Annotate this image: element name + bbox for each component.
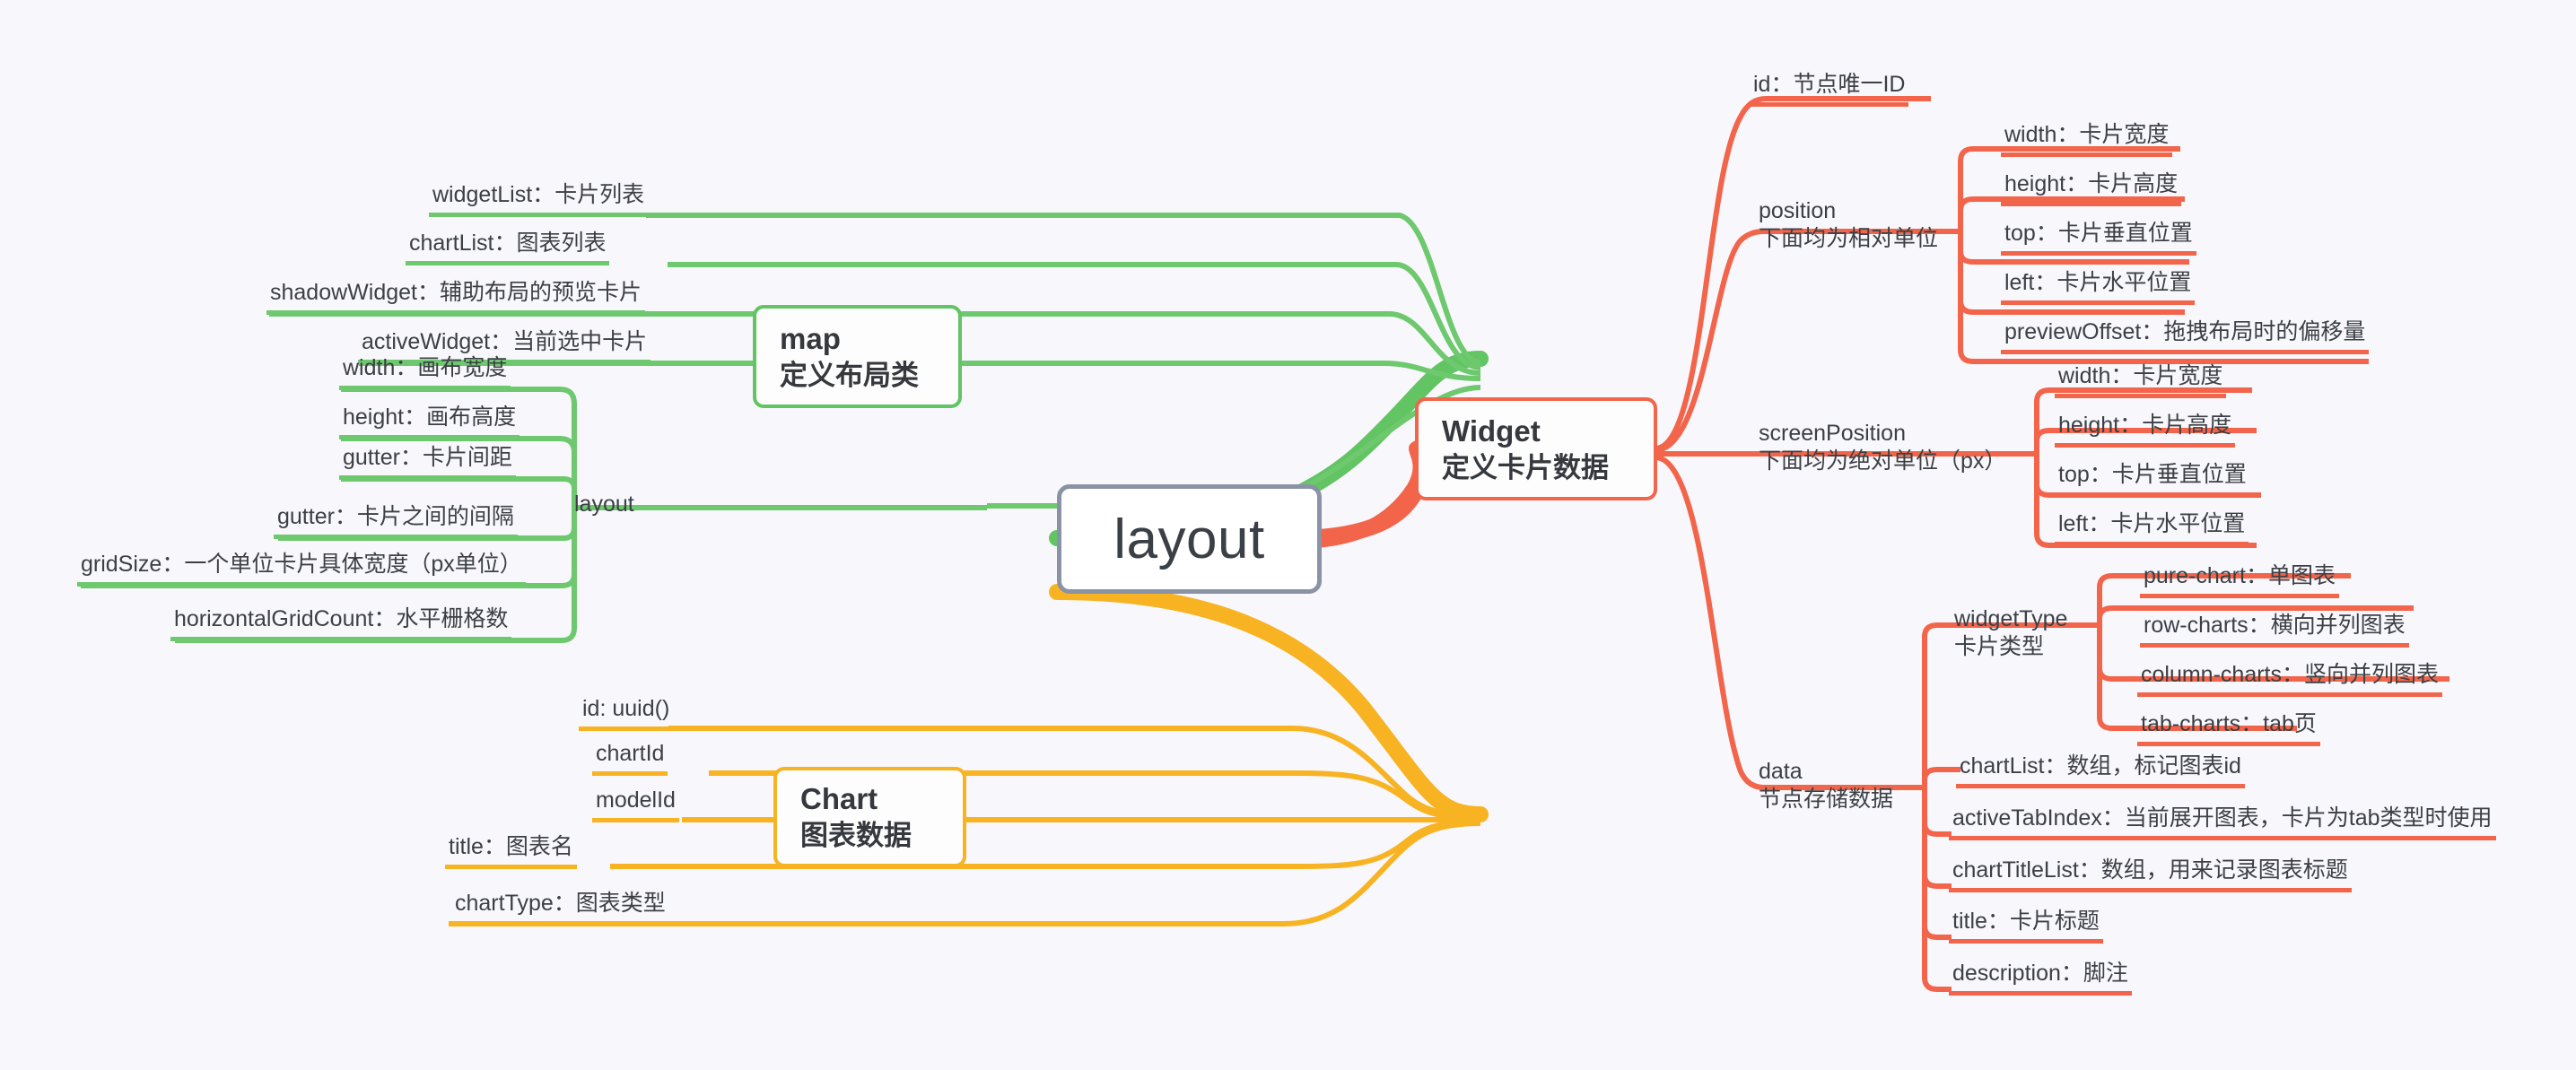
group-label-text: layout	[574, 492, 634, 517]
leaf-screenposition-height[interactable]: height：卡片高度	[2055, 414, 2235, 448]
leaf-map-layout-gutter[interactable]: gutter：卡片间距	[339, 447, 516, 480]
leaf-label: tab-charts：tab页	[2141, 711, 2317, 736]
group-sublabel-text: 卡片类型	[1954, 633, 2067, 661]
leaf-label: description：脚注	[1952, 961, 2128, 986]
leaf-label: chartList：图表列表	[409, 231, 606, 256]
leaf-label: id: uuid()	[582, 696, 669, 721]
leaf-widgettype-pure-chart[interactable]: pure-chart：单图表	[2140, 565, 2339, 598]
leaf-label: top：卡片垂直位置	[2058, 462, 2247, 487]
group-label-layout[interactable]: layout	[574, 493, 634, 516]
leaf-position-left[interactable]: left：卡片水平位置	[2001, 272, 2195, 305]
root-node-label: layout	[1113, 508, 1264, 571]
leaf-data-title[interactable]: title：卡片标题	[1949, 910, 2103, 944]
group-label-widgettype[interactable]: widgetType 卡片类型	[1954, 605, 2067, 662]
group-label-position[interactable]: position 下面均为相对单位	[1759, 197, 1938, 254]
leaf-widgettype-column-charts[interactable]: column-charts：竖向并列图表	[2137, 664, 2442, 697]
leaf-widget-id[interactable]: id：节点唯一ID	[1750, 74, 1908, 107]
mindmap-canvas: layout map 定义布局类 widgetList：卡片列表 chartLi…	[0, 0, 2576, 1070]
leaf-label: activeTabIndex：当前展开图表，卡片为tab类型时使用	[1952, 805, 2493, 831]
leaf-shadowwidget[interactable]: shadowWidget：辅助布局的预览卡片	[266, 282, 645, 315]
branch-node-chart[interactable]: Chart 图表数据	[773, 767, 966, 867]
leaf-label: previewOffset：拖拽布局时的偏移量	[2004, 319, 2365, 344]
root-node-layout[interactable]: layout	[1057, 484, 1322, 594]
leaf-chart-id[interactable]: id: uuid()	[579, 698, 673, 731]
leaf-position-top[interactable]: top：卡片垂直位置	[2001, 222, 2196, 256]
leaf-chart-charttype[interactable]: chartType：图表类型	[451, 892, 669, 926]
leaf-label: left：卡片水平位置	[2058, 511, 2245, 536]
leaf-label: gutter：卡片之间的间隔	[277, 504, 514, 529]
leaf-data-description[interactable]: description：脚注	[1949, 962, 2132, 996]
leaf-label: pure-chart：单图表	[2144, 563, 2336, 588]
leaf-label: height：卡片高度	[2004, 171, 2178, 196]
leaf-label: chartTitleList：数组，用来记录图表标题	[1952, 857, 2348, 883]
leaf-data-activetabindex[interactable]: activeTabIndex：当前展开图表，卡片为tab类型时使用	[1949, 807, 2496, 840]
group-label-screenposition[interactable]: screenPosition 下面均为绝对单位（px）	[1759, 420, 2006, 476]
leaf-widgettype-row-charts[interactable]: row-charts：横向并列图表	[2140, 614, 2409, 648]
leaf-label: gridSize：一个单位卡片具体宽度（px单位）	[81, 552, 522, 577]
leaf-label: width：卡片宽度	[2004, 122, 2169, 147]
leaf-label: width：画布宽度	[343, 355, 507, 380]
leaf-label: chartId	[596, 741, 664, 766]
branch-node-widget-title: Widget	[1442, 413, 1541, 450]
leaf-position-previewoffset[interactable]: previewOffset：拖拽布局时的偏移量	[2001, 321, 2369, 354]
leaf-screenposition-width[interactable]: width：卡片宽度	[2055, 365, 2226, 398]
leaf-widgetlist[interactable]: widgetList：卡片列表	[429, 184, 648, 217]
leaf-label: gutter：卡片间距	[343, 445, 512, 470]
leaf-label: shadowWidget：辅助布局的预览卡片	[270, 280, 642, 305]
leaf-map-layout-horizontalgridcount[interactable]: horizontalGridCount：水平栅格数	[170, 608, 511, 641]
branch-node-widget-subtitle: 定义卡片数据	[1442, 450, 1609, 486]
group-label-text: data	[1759, 759, 1803, 784]
group-label-data[interactable]: data 节点存储数据	[1759, 758, 1893, 814]
leaf-label: id：节点唯一ID	[1753, 72, 1905, 97]
leaf-chartlist-map[interactable]: chartList：图表列表	[406, 232, 609, 265]
group-label-text: widgetType	[1954, 606, 2067, 631]
leaf-label: widgetList：卡片列表	[432, 182, 644, 207]
leaf-map-layout-width[interactable]: width：画布宽度	[339, 357, 511, 390]
leaf-map-layout-gridsize[interactable]: gridSize：一个单位卡片具体宽度（px单位）	[77, 553, 526, 587]
leaf-label: chartList：数组，标记图表id	[1960, 753, 2241, 779]
group-label-text: position	[1759, 198, 1836, 223]
leaf-label: title：卡片标题	[1952, 909, 2100, 934]
leaf-data-charttitlelist[interactable]: chartTitleList：数组，用来记录图表标题	[1949, 859, 2352, 892]
leaf-chart-chartid[interactable]: chartId	[592, 743, 668, 776]
branch-node-map-title: map	[780, 320, 841, 358]
branch-node-widget[interactable]: Widget 定义卡片数据	[1415, 397, 1657, 500]
leaf-map-layout-gutter-2[interactable]: gutter：卡片之间的间隔	[274, 506, 518, 539]
leaf-label: column-charts：竖向并列图表	[2141, 662, 2439, 687]
leaf-label: row-charts：横向并列图表	[2144, 613, 2406, 638]
leaf-label: activeWidget：当前选中卡片	[362, 329, 647, 354]
leaf-data-chartlist[interactable]: chartList：数组，标记图表id	[1956, 755, 2245, 788]
leaf-label: width：卡片宽度	[2058, 363, 2222, 388]
leaf-label: chartType：图表类型	[455, 891, 666, 916]
leaf-screenposition-left[interactable]: left：卡片水平位置	[2055, 513, 2249, 546]
leaf-label: top：卡片垂直位置	[2004, 221, 2193, 246]
leaf-chart-title[interactable]: title：图表名	[445, 836, 577, 869]
leaf-label: height：卡片高度	[2058, 413, 2231, 438]
leaf-label: modelId	[596, 787, 676, 813]
leaf-label: left：卡片水平位置	[2004, 270, 2191, 295]
leaf-chart-modelid[interactable]: modelId	[592, 789, 679, 822]
leaf-widgettype-tab-charts[interactable]: tab-charts：tab页	[2137, 713, 2320, 746]
branch-node-map-subtitle: 定义布局类	[780, 358, 919, 394]
leaf-label: height：画布高度	[343, 405, 516, 430]
leaf-screenposition-top[interactable]: top：卡片垂直位置	[2055, 464, 2250, 497]
group-sublabel-text: 节点存储数据	[1759, 786, 1893, 813]
group-label-text: screenPosition	[1759, 421, 1906, 446]
group-sublabel-text: 下面均为相对单位	[1759, 225, 1938, 253]
branch-node-chart-title: Chart	[800, 780, 878, 818]
branch-node-chart-subtitle: 图表数据	[800, 818, 912, 854]
leaf-position-height[interactable]: height：卡片高度	[2001, 173, 2181, 206]
branch-node-map[interactable]: map 定义布局类	[753, 305, 962, 408]
leaf-label: horizontalGridCount：水平栅格数	[174, 606, 508, 631]
leaf-map-layout-height[interactable]: height：画布高度	[339, 406, 520, 439]
group-sublabel-text: 下面均为绝对单位（px）	[1759, 448, 2006, 475]
leaf-position-width[interactable]: width：卡片宽度	[2001, 124, 2172, 157]
leaf-label: title：图表名	[449, 834, 573, 859]
